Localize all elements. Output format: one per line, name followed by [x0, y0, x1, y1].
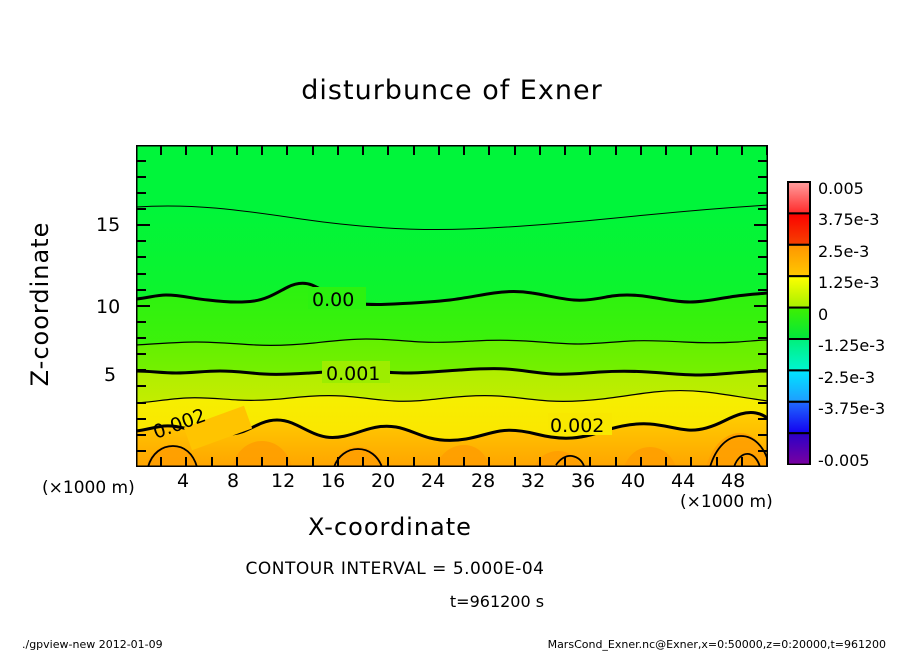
x-unit-left: (×1000 m)	[42, 478, 135, 498]
colorbar-band-2	[788, 245, 810, 276]
x-tick-8: 8	[227, 470, 239, 492]
colorbar-band-1	[788, 213, 810, 244]
x-tick-32: 32	[521, 470, 545, 492]
colorbar-band-7	[788, 402, 810, 433]
y-tick-15: 15	[96, 214, 120, 236]
y-axis-title: Z-coordinate	[26, 204, 54, 404]
timestamp-label: t=961200 s	[0, 592, 904, 611]
x-tick-48: 48	[721, 470, 745, 492]
colorbar-label-1: 3.75e-3	[818, 210, 879, 229]
contour-label-0.00: 0.00	[312, 289, 354, 311]
colorbar-label-3: 1.25e-3	[818, 273, 879, 292]
x-tick-28: 28	[471, 470, 495, 492]
contour-label-0.002-right: 0.002	[550, 415, 604, 437]
x-tick-20: 20	[371, 470, 395, 492]
colorbar-label-2: 2.5e-3	[818, 242, 869, 261]
colorbar-label-5: -1.25e-3	[818, 336, 885, 355]
contour-plot-area: 0.00 0.001 0.002 0.002	[136, 145, 768, 467]
colorbar-band-8	[788, 433, 810, 464]
colorbar-label-6: -2.5e-3	[818, 368, 875, 387]
y-tick-10: 10	[96, 296, 120, 318]
colorbar-band-6	[788, 370, 810, 401]
x-axis-title: X-coordinate	[0, 513, 780, 541]
chart-title: disturbunce of Exner	[0, 75, 904, 106]
footer-left: ./gpview-new 2012-01-09	[22, 638, 163, 651]
x-tick-12: 12	[271, 470, 295, 492]
colorbar-label-8: -0.005	[818, 451, 870, 470]
x-unit-right: (×1000 m)	[680, 492, 773, 512]
colorbar-label-4: 0	[818, 305, 828, 324]
colorbar-label-0: 0.005	[818, 179, 864, 198]
x-tick-24: 24	[421, 470, 445, 492]
colorbar-band-0	[788, 182, 810, 213]
colorbar-band-5	[788, 339, 810, 370]
colorbar-label-7: -3.75e-3	[818, 399, 885, 418]
colorbar-band-3	[788, 276, 810, 307]
colorbar-band-4	[788, 308, 810, 339]
x-tick-40: 40	[621, 470, 645, 492]
colorbar	[787, 181, 811, 465]
contour-interval: CONTOUR INTERVAL = 5.000E-04	[0, 559, 790, 579]
x-tick-16: 16	[321, 470, 345, 492]
x-tick-44: 44	[671, 470, 695, 492]
footer-right: MarsCond_Exner.nc@Exner,x=0:50000,z=0:20…	[548, 638, 886, 651]
x-tick-36: 36	[571, 470, 595, 492]
contour-label-0.001: 0.001	[326, 363, 380, 385]
y-tick-5: 5	[104, 364, 116, 386]
x-tick-4: 4	[177, 470, 189, 492]
